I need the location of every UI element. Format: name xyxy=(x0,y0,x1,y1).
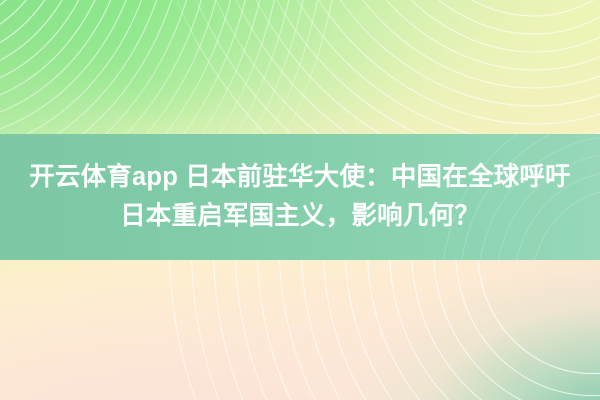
headline-line-2: 日本重启军国主义，影响几何？ xyxy=(120,200,480,233)
headline: 开云体育app 日本前驻华大使：中国在全球呼吁 日本重启军国主义，影响几何？ xyxy=(0,134,600,260)
promo-banner: 开云体育app 日本前驻华大使：中国在全球呼吁 日本重启军国主义，影响几何？ xyxy=(0,0,600,400)
headline-line-1: 开云体育app 日本前驻华大使：中国在全球呼吁 xyxy=(29,161,571,194)
